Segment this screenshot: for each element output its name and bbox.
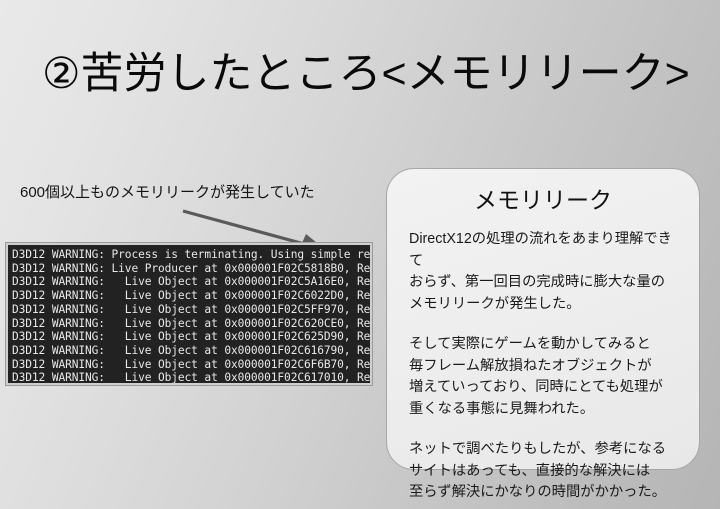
console-log-line: D3D12 WARNING: Live Object at 0x000001F0…	[12, 289, 372, 303]
info-paragraph: DirectX12の処理の流れをあまり理解できて おらず、第一回目の完成時に膨大…	[409, 229, 681, 315]
presentation-slide: ②苦労したところ<メモリリーク> 600個以上ものメモリリークが発生していた D…	[0, 0, 720, 509]
console-log-line: D3D12 WARNING: Live Object at 0x000001F0…	[12, 358, 372, 372]
console-log-line: D3D12 WARNING: Live Object at 0x000001F0…	[12, 344, 372, 358]
console-log-line: D3D12 WARNING: Process is terminating. U…	[12, 248, 372, 262]
console-log-list: D3D12 WARNING: Process is terminating. U…	[12, 248, 372, 385]
info-paragraph: ネットで調べたりもしたが、参考になる サイトはあっても、直接的な解決には 至らず…	[409, 439, 681, 504]
console-log-line: D3D12 WARNING: Live Producer at 0x000001…	[12, 262, 372, 276]
console-log-line: D3D12 WARNING: Live Object at 0x000001F0…	[12, 303, 372, 317]
info-panel-title: メモリリーク	[387, 185, 699, 215]
console-log-line: D3D12 WARNING: Live Object at 0x000001F0…	[12, 317, 372, 331]
info-panel: メモリリーク DirectX12の処理の流れをあまり理解できて おらず、第一回目…	[386, 168, 700, 470]
info-panel-body: DirectX12の処理の流れをあまり理解できて おらず、第一回目の完成時に膨大…	[409, 229, 681, 504]
console-log-line: D3D12 WARNING: Live Object at 0x000001F0…	[12, 275, 372, 289]
console-log-line: D3D12 WARNING: Live Object at 0x000001F0…	[12, 330, 372, 344]
console-output-window: D3D12 WARNING: Process is terminating. U…	[6, 243, 372, 385]
info-paragraph: そして実際にゲームを動かしてみると 毎フレーム解放損ねたオブジェクトが 増えてい…	[409, 334, 681, 420]
console-log-line: D3D12 WARNING: Live Object at 0x000001F0…	[12, 371, 372, 385]
page-title: ②苦労したところ<メモリリーク>	[42, 46, 702, 102]
